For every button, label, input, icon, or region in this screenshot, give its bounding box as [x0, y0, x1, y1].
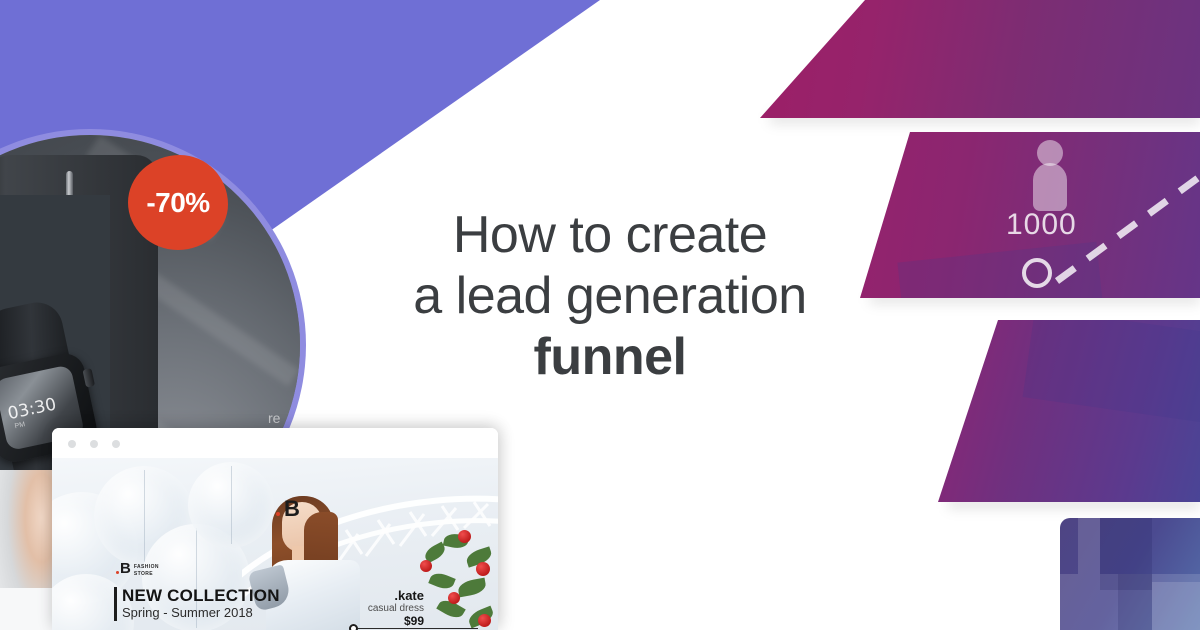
product-price: $99 — [358, 614, 424, 628]
brand-mark-b: B — [284, 496, 299, 522]
funnel-band-decision — [938, 320, 1200, 502]
dashed-trend-line — [1055, 165, 1200, 290]
rose — [476, 562, 490, 576]
rose — [448, 592, 460, 604]
coupon-description-line-1: ow And Get Your — [0, 290, 100, 314]
fashion-store-logo: B FASHION STORE — [116, 562, 159, 577]
page-title: How to create a lead generation funnel — [330, 205, 890, 388]
watch-time-label: 03:30 — [6, 394, 58, 424]
product-description: casual dress — [358, 603, 424, 614]
browser-dot-minimize-icon[interactable] — [90, 440, 98, 448]
funnel-band-awareness — [760, 0, 1200, 118]
lead-generation-funnel-banner: 1000 COUPON X ow And Get Your F for All … — [0, 0, 1200, 630]
product-tag-rule — [358, 628, 478, 629]
trend-endpoint-circle-icon — [1022, 258, 1052, 288]
photo-sliver — [0, 470, 52, 630]
collection-headline: NEW COLLECTION — [122, 586, 280, 605]
funnel-block — [1152, 582, 1200, 630]
funnel-block — [1078, 518, 1100, 574]
product-tag: .kate casual dress $99 — [358, 588, 424, 628]
product-hotspot-icon[interactable] — [349, 624, 358, 630]
funnel-band-action — [1060, 518, 1200, 630]
discount-badge-label: -70% — [146, 187, 209, 219]
collection-subheadline: Spring - Summer 2018 — [122, 605, 280, 621]
balloon-seam — [231, 466, 232, 544]
rose — [478, 614, 491, 627]
product-name: .kate — [358, 588, 424, 603]
rose — [420, 560, 432, 572]
logo-wordmark: FASHION STORE — [134, 562, 159, 577]
title-line-3-bold: funnel — [330, 327, 890, 388]
browser-title-bar — [52, 428, 498, 458]
funnel-block — [1118, 574, 1152, 630]
balloon-seam — [144, 470, 145, 562]
title-line-1: How to create — [330, 205, 890, 266]
faint-cut-label: re — [268, 410, 280, 426]
title-line-2: a lead generation — [330, 266, 890, 327]
watch-meridiem-label: PM — [14, 421, 26, 430]
rose — [458, 530, 471, 543]
browser-dot-maximize-icon[interactable] — [112, 440, 120, 448]
discount-badge: -70% — [128, 155, 228, 250]
collection-headline-block: NEW COLLECTION Spring - Summer 2018 — [114, 586, 280, 621]
roses-decor — [418, 528, 498, 630]
leaf — [428, 570, 455, 592]
coupon-description-line-2: F for All gadgets — [0, 314, 100, 338]
leaf — [457, 578, 487, 598]
coupon-title: COUPON — [0, 220, 124, 242]
logo-dot-icon — [116, 571, 119, 574]
logo-wordmark-line-1: FASHION — [134, 564, 159, 571]
logo-wordmark-line-2: STORE — [134, 571, 159, 578]
logo-letter: B — [120, 562, 131, 576]
funnel-texture — [1023, 308, 1200, 422]
brand-mark-dot-icon — [276, 512, 280, 516]
coupon-description: ow And Get Your F for All gadgets — [0, 290, 100, 338]
browser-dot-close-icon[interactable] — [68, 440, 76, 448]
